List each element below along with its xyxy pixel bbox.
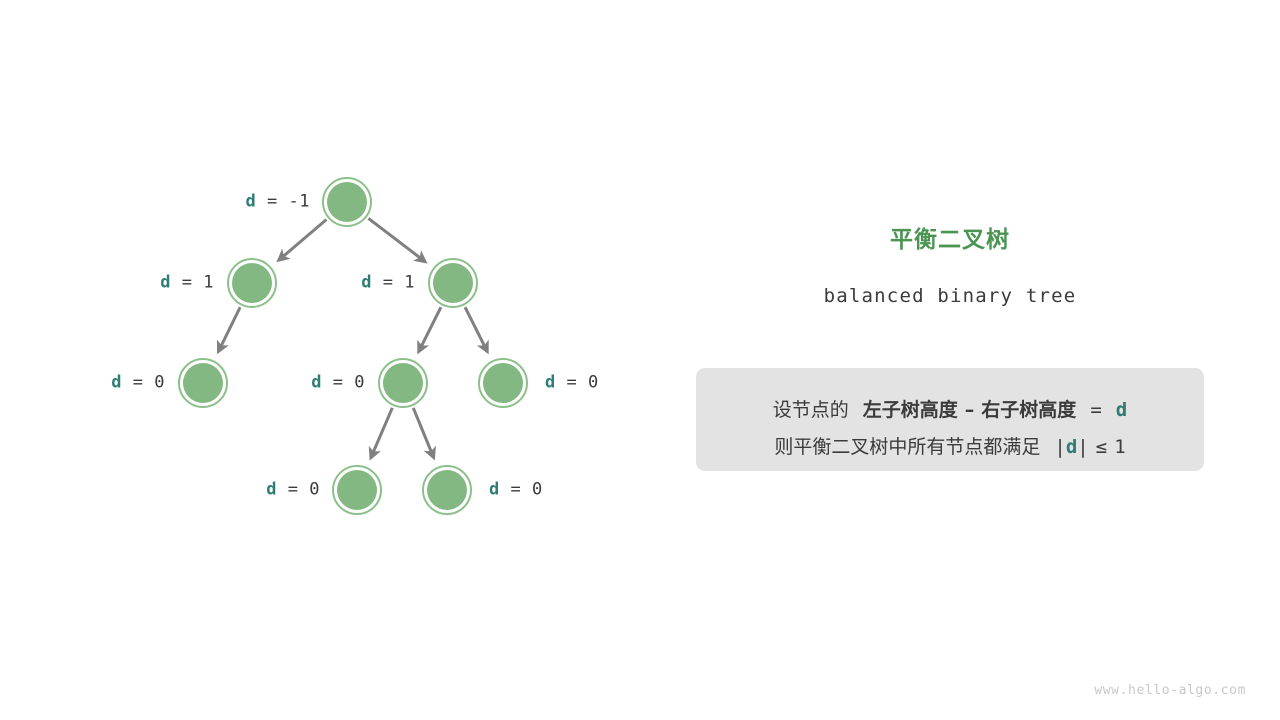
- condition-operator: ≤: [1096, 436, 1107, 458]
- balance-value: 0: [309, 480, 320, 500]
- balance-variable-d: d: [311, 373, 322, 393]
- balance-variable-d: d: [160, 273, 171, 293]
- node-disc: [427, 470, 467, 510]
- node-balance-label: d = 0: [311, 375, 365, 392]
- node-disc: [232, 263, 272, 303]
- definition-minus: –: [965, 399, 975, 421]
- balance-variable-d: d: [246, 192, 257, 212]
- watermark: www.hello-algo.com: [1094, 683, 1246, 698]
- balance-variable-d: d: [361, 273, 372, 293]
- node-disc: [383, 363, 423, 403]
- definition-left-subtree-height: 左子树高度: [863, 399, 958, 421]
- node-balance-label: d = 0: [489, 482, 543, 499]
- definition-variable-d: d: [1116, 399, 1127, 421]
- balance-value: -1: [289, 192, 310, 212]
- node-disc: [483, 363, 523, 403]
- tree-node: [429, 259, 477, 307]
- caption-panel: 平衡二叉树 balanced binary tree: [696, 225, 1204, 308]
- definition-box: 设节点的左子树高度–右子树高度=d 则平衡二叉树中所有节点都满足|d|≤1: [696, 368, 1204, 471]
- balance-variable-d: d: [266, 480, 277, 500]
- diagram-canvas: d = -1d = 1d = 1d = 0d = 0d = 0d = 0d = …: [0, 0, 1280, 720]
- balance-value: 1: [203, 273, 214, 293]
- definition-right-subtree-height: 右子树高度: [981, 399, 1076, 421]
- balance-equals: =: [500, 480, 532, 500]
- condition-value: 1: [1114, 436, 1125, 458]
- tree-node: [333, 466, 381, 514]
- node-disc: [433, 263, 473, 303]
- balance-equals: =: [256, 192, 288, 212]
- tree-edge: [371, 408, 393, 458]
- abs-bar-close: |: [1077, 436, 1088, 458]
- balance-value: 0: [154, 373, 165, 393]
- definition-equals: =: [1090, 399, 1101, 421]
- node-balance-label: d = 0: [266, 482, 320, 499]
- balance-variable-d: d: [545, 373, 556, 393]
- balance-equals: =: [277, 480, 309, 500]
- balance-equals: =: [322, 373, 354, 393]
- node-balance-label: d = 1: [361, 275, 415, 292]
- balance-value: 0: [354, 373, 365, 393]
- condition-variable-d: d: [1066, 436, 1077, 458]
- tree-edge: [419, 307, 441, 352]
- node-disc: [327, 182, 367, 222]
- tree-nodes: [179, 178, 527, 514]
- binary-tree-graphic: [0, 0, 1280, 720]
- panel-subtitle: balanced binary tree: [696, 255, 1204, 308]
- node-disc: [337, 470, 377, 510]
- tree-edge: [218, 307, 240, 351]
- balance-equals: =: [556, 373, 588, 393]
- tree-node: [423, 466, 471, 514]
- definition-condition-prefix: 则平衡二叉树中所有节点都满足: [774, 436, 1040, 458]
- abs-bar-open: |: [1054, 436, 1065, 458]
- balance-equals: =: [122, 373, 154, 393]
- tree-edges: [218, 218, 487, 457]
- tree-edge: [465, 307, 487, 352]
- definition-line-2: 则平衡二叉树中所有节点都满足|d|≤1: [696, 438, 1204, 457]
- definition-prefix: 设节点的: [773, 399, 849, 421]
- tree-node: [323, 178, 371, 226]
- balance-value: 0: [532, 480, 543, 500]
- balance-equals: =: [171, 273, 203, 293]
- balance-variable-d: d: [111, 373, 122, 393]
- tree-node: [379, 359, 427, 407]
- tree-edge: [279, 220, 327, 261]
- tree-node: [228, 259, 276, 307]
- node-balance-label: d = -1: [246, 194, 310, 211]
- node-balance-label: d = 0: [111, 375, 165, 392]
- balance-value: 1: [404, 273, 415, 293]
- tree-edge: [368, 218, 425, 261]
- balance-equals: =: [372, 273, 404, 293]
- tree-edge: [413, 408, 433, 458]
- node-balance-label: d = 1: [160, 275, 214, 292]
- panel-title: 平衡二叉树: [696, 225, 1204, 255]
- balance-variable-d: d: [489, 480, 500, 500]
- node-balance-label: d = 0: [545, 375, 599, 392]
- tree-node: [479, 359, 527, 407]
- definition-line-1: 设节点的左子树高度–右子树高度=d: [696, 401, 1204, 420]
- node-disc: [183, 363, 223, 403]
- balance-value: 0: [588, 373, 599, 393]
- tree-node: [179, 359, 227, 407]
